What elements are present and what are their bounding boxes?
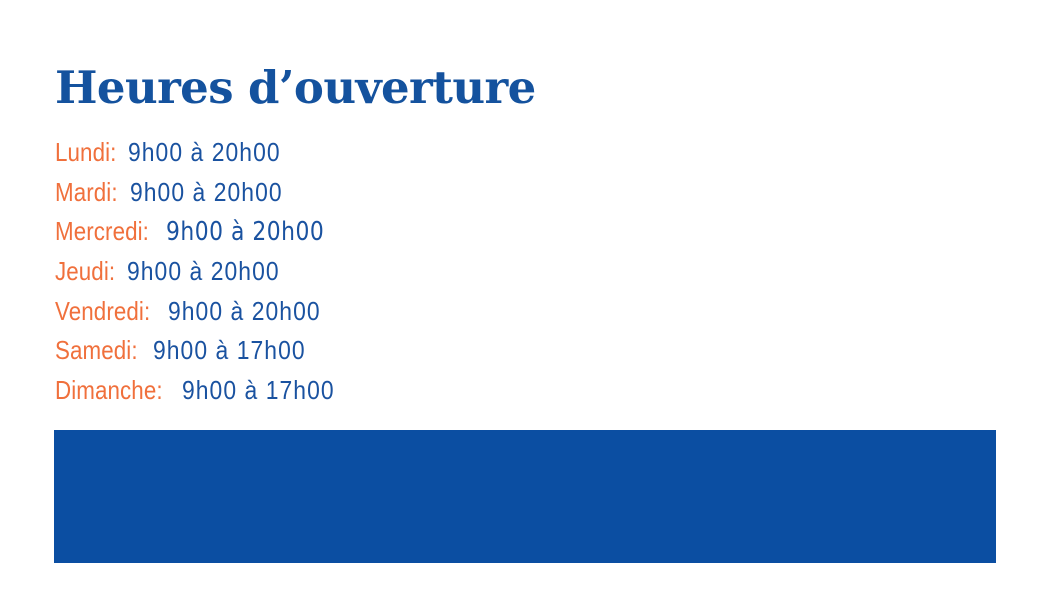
time-range-label: 9h00 à 20h00: [130, 173, 283, 213]
hours-row: Vendredi:9h00 à 20h00: [55, 292, 695, 332]
day-label: Mardi:: [55, 173, 118, 213]
time-range-label: 9h00 à 20h00: [128, 133, 281, 173]
opening-hours-list: Lundi:9h00 à 20h00Mardi:9h00 à 20h00Merc…: [55, 133, 695, 411]
day-label: Lundi:: [55, 133, 116, 173]
time-range-label: 9h00 à 17h00: [153, 331, 306, 371]
time-range-label: 9h00 à 20h00: [166, 213, 324, 253]
day-label: Vendredi:: [55, 292, 150, 332]
hours-row: Dimanche:9h00 à 17h00: [55, 371, 695, 411]
day-label: Dimanche:: [55, 371, 163, 411]
banner-block: [54, 430, 996, 563]
hours-row: Mardi:9h00 à 20h00: [55, 173, 695, 213]
day-label: Jeudi:: [55, 252, 115, 292]
time-range-label: 9h00 à 17h00: [182, 371, 335, 411]
day-label: Samedi:: [55, 331, 138, 371]
time-range-label: 9h00 à 20h00: [127, 252, 280, 292]
day-label: Mercredi:: [55, 212, 149, 252]
hours-row: Lundi:9h00 à 20h00: [55, 133, 695, 173]
hours-row: Samedi:9h00 à 17h00: [55, 331, 695, 371]
hours-row: Jeudi:9h00 à 20h00: [55, 252, 695, 292]
page-title: Heures d’ouverture: [55, 62, 536, 114]
hours-row: Mercredi:9h00 à 20h00: [55, 212, 695, 252]
slide-canvas: Heures d’ouverture Lundi:9h00 à 20h00Mar…: [0, 0, 1050, 600]
time-range-label: 9h00 à 20h00: [168, 292, 321, 332]
